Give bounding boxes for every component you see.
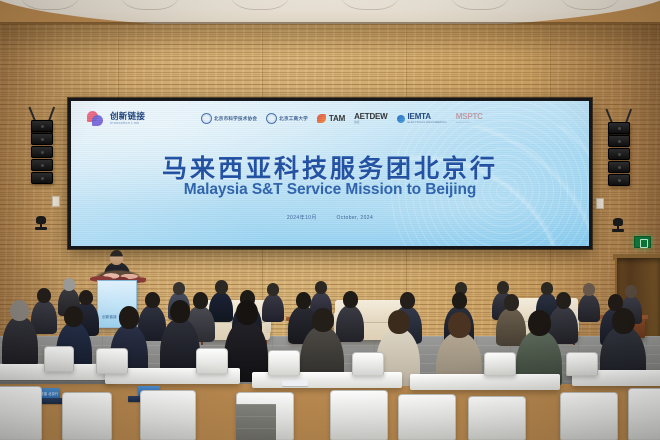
screen-date: 2024年10月 October, 2024: [71, 214, 589, 221]
wall-plate-left: [52, 196, 60, 207]
spotlight-left: [33, 216, 49, 230]
chair[interactable]: [628, 388, 660, 440]
audience-head: [37, 288, 51, 303]
chair[interactable]: [330, 390, 388, 440]
wall-plate-right: [596, 198, 604, 209]
audience-head: [452, 292, 467, 309]
audience-head: [625, 285, 637, 298]
audience-table: [410, 374, 560, 390]
audience-head: [63, 278, 75, 291]
brand-logo: 创新链接 Innovation Link: [87, 110, 145, 128]
chair[interactable]: [398, 394, 456, 440]
audience-head: [215, 280, 228, 294]
notepad: [282, 380, 308, 386]
screen-title-cn: 马来西亚科技服务团北京行: [71, 149, 589, 185]
chair[interactable]: [560, 392, 618, 440]
audience-person: [336, 305, 364, 342]
chair[interactable]: [62, 392, 112, 440]
university-seal-icon: [201, 113, 212, 124]
audience-head: [193, 292, 208, 309]
brand-name-cn: 创新链接: [110, 112, 145, 121]
audience-person: [262, 294, 284, 322]
led-screen[interactable]: 创新链接 Innovation Link 北京市科学技术协会 北京工商大学 TA…: [68, 98, 592, 249]
audience-person: [578, 294, 600, 322]
emergency-exit-icon: [634, 236, 651, 248]
audience-head: [145, 292, 160, 308]
partner-logo-0: 北京市科学技术协会: [201, 113, 257, 124]
audience-head: [400, 292, 415, 309]
partner-logo-2: TAM: [317, 114, 345, 123]
chair[interactable]: [268, 350, 300, 376]
audience-head: [497, 281, 509, 294]
audience-head: [64, 306, 83, 327]
audience-head: [448, 312, 471, 338]
tam-logo-icon: [317, 114, 326, 123]
chair[interactable]: [352, 352, 384, 376]
audience-head: [79, 290, 93, 305]
partner-logo-3: AETDEW 协会: [354, 113, 387, 125]
partner-logo-1: 北京工商大学: [266, 113, 308, 124]
audience-head: [528, 310, 551, 336]
line-array-speaker-left: [31, 120, 53, 185]
line-array-speaker-right: [608, 122, 630, 187]
partner-logo-4: IEMTA ELECTRICAL ENGINEERING: [397, 113, 447, 125]
iemta-logo-icon: [397, 115, 405, 123]
spotlight-right: [610, 218, 626, 232]
audience-head: [583, 283, 595, 296]
audience-head: [612, 308, 635, 334]
chair[interactable]: [566, 352, 598, 376]
partner-logo-5: MSPTC association: [456, 113, 483, 125]
chair[interactable]: [196, 348, 228, 374]
audience-head: [556, 292, 571, 309]
audience-head: [236, 300, 258, 325]
date-en: October, 2024: [337, 215, 374, 221]
audience-head: [119, 306, 139, 329]
audience-head: [296, 292, 311, 309]
audience-person: [2, 316, 38, 368]
university-seal-icon: [266, 113, 277, 124]
presenter-head: [110, 250, 123, 265]
chair[interactable]: [0, 386, 42, 440]
audience-head: [343, 291, 358, 308]
aisle-floor: [236, 404, 276, 440]
partner-logo-strip: 北京市科学技术协会 北京工商大学 TAM AETDEW 协会: [201, 113, 483, 125]
swirl-logo-icon: [87, 110, 105, 128]
chair[interactable]: [484, 352, 516, 376]
conference-photo: 创新链接 Innovation Link 北京市科学技术协会 北京工商大学 TA…: [0, 0, 660, 440]
screen-title-en: Malaysia S&T Service Mission to Beijing: [71, 181, 589, 199]
chair[interactable]: [140, 390, 196, 440]
audience-head: [388, 310, 410, 334]
audience-head: [315, 281, 327, 294]
chair[interactable]: [468, 396, 526, 440]
audience-head: [267, 283, 279, 296]
date-cn: 2024年10月: [287, 215, 317, 221]
audience-head: [173, 282, 185, 295]
audience-head: [170, 300, 190, 323]
audience-head: [541, 282, 553, 295]
audience-head: [312, 308, 334, 332]
brand-name-en: Innovation Link: [110, 122, 145, 126]
chair[interactable]: [44, 346, 74, 372]
audience-head: [10, 300, 29, 321]
chair[interactable]: [96, 348, 128, 374]
audience-head: [504, 294, 519, 311]
